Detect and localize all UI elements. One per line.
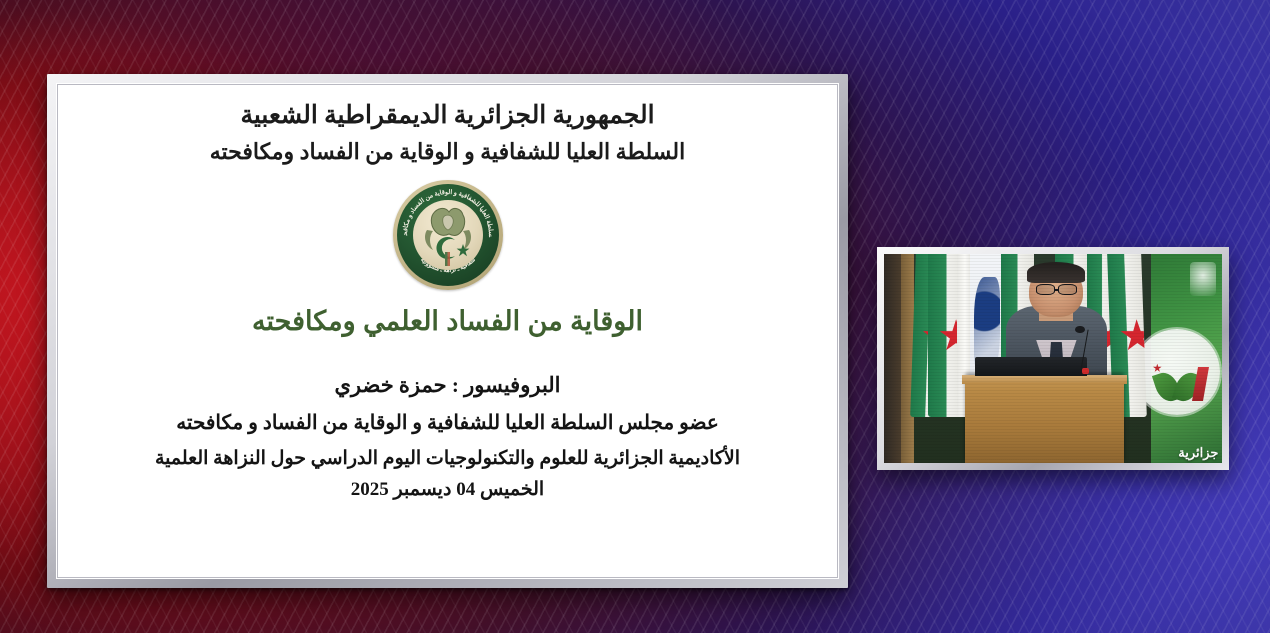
event-title: الأكاديمية الجزائرية للعلوم والتكنولوجيا…	[59, 446, 836, 473]
presentation-slide-frame[interactable]: الجمهورية الجزائرية الديمقراطية الشعبية …	[47, 74, 848, 588]
slide-main-title: الوقاية من الفساد العلمي ومكافحته	[59, 306, 836, 337]
speaker-video-frame[interactable]: جزائرية	[877, 247, 1229, 470]
speaker-role: عضو مجلس السلطة العليا للشفافية و الوقاي…	[59, 409, 836, 437]
slide-header-republic: الجمهورية الجزائرية الديمقراطية الشعبية	[59, 100, 836, 132]
speaker-hair	[1027, 262, 1085, 283]
laptop-screen	[975, 357, 1087, 376]
speaker-info-block: البروفيسور : حمزة خضري عضو مجلس السلطة ا…	[59, 371, 836, 504]
state-seal-emblem: السلطة العليا للشفافية و الوقاية من الفس…	[393, 180, 503, 290]
academy-logo-icon	[1134, 329, 1220, 415]
slide-header-authority: السلطة العليا للشفافية و الوقاية من الفس…	[59, 138, 836, 166]
slide-surface: الجمهورية الجزائرية الديمقراطية الشعبية …	[59, 86, 836, 576]
podium	[965, 375, 1124, 463]
banner-caption: جزائرية	[1178, 445, 1218, 461]
logo-star-icon	[1153, 364, 1162, 373]
glasses-bridge-icon	[1055, 289, 1059, 290]
seal-motif-algeria	[413, 200, 483, 270]
banner-top-mark	[1190, 262, 1216, 296]
speaker-name: البروفيسور : حمزة خضري	[59, 371, 836, 401]
slide-bevel: الجمهورية الجزائرية الديمقراطية الشعبية …	[56, 83, 839, 579]
logo-red-mark-icon	[1192, 367, 1209, 401]
event-date: الخميس 04 ديسمبر 2025	[59, 477, 836, 504]
flag-star-icon	[1120, 319, 1147, 353]
broadcast-stage: الجمهورية الجزائرية الديمقراطية الشعبية …	[0, 0, 1270, 633]
scene-green-banner: جزائرية	[1151, 254, 1222, 463]
glasses-left-lens-icon	[1036, 284, 1055, 294]
speaker-video-feed[interactable]: جزائرية	[884, 254, 1222, 463]
microphone-indicator-icon	[1082, 368, 1089, 374]
glasses-right-lens-icon	[1058, 284, 1077, 294]
podium-top-edge	[962, 375, 1127, 384]
seal-core	[413, 200, 483, 270]
